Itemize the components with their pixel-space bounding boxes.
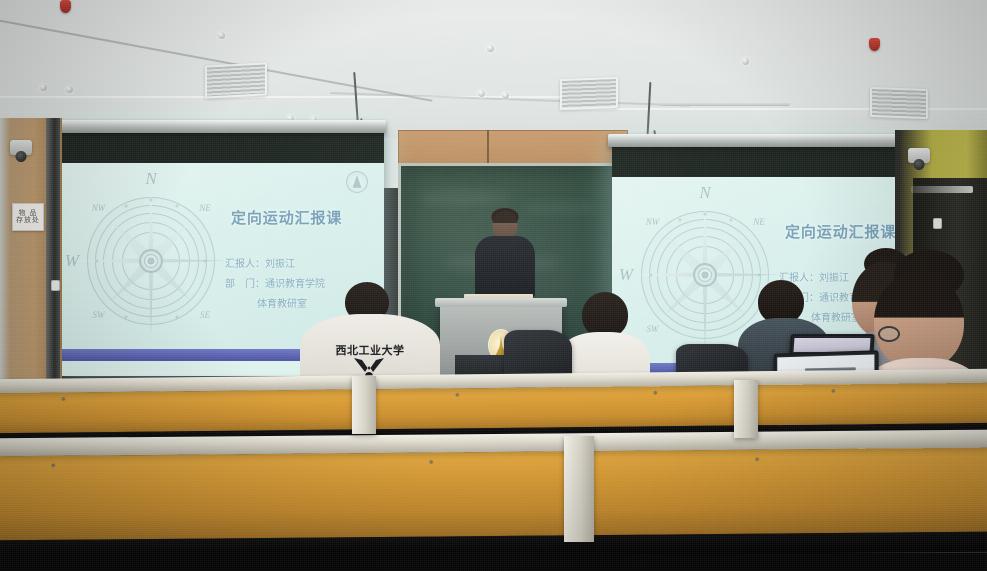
ceiling-spotlight-5	[66, 86, 73, 93]
compass-label-southwest: SW	[93, 310, 105, 320]
wall-socket-right[interactable]	[933, 218, 942, 229]
wall-socket-left[interactable]	[51, 280, 60, 291]
presenter-body	[475, 236, 535, 298]
audience-member-white-jacket: 西北工业大学	[300, 282, 440, 382]
compass-rose-left: N W NW NE SW SE	[76, 181, 226, 341]
compass-label-northeast: NE	[199, 203, 211, 213]
compass-label-northwest-right: NW	[646, 217, 660, 227]
storage-wall-sign: 物 品 存放处	[12, 203, 44, 231]
left-wall-frame	[46, 118, 60, 403]
ceiling-spotlight-2	[487, 45, 494, 52]
ceiling-spotlight-7	[502, 92, 509, 99]
ceiling-spotlight-6	[478, 90, 485, 97]
compass-label-west-right: W	[619, 265, 633, 285]
wall-panel-center-seam	[487, 130, 489, 166]
compass-label-west: W	[65, 251, 79, 271]
screen-masking-left	[58, 128, 384, 163]
compass-label-southeast: SE	[200, 310, 210, 320]
wall-panel-center	[398, 130, 628, 166]
compass-label-north-right: N	[699, 183, 710, 203]
air-vent-3	[870, 87, 928, 119]
ceiling-spotlight-1	[218, 32, 225, 39]
projection-screen-roller-right	[608, 134, 938, 147]
desk-row-front	[0, 430, 987, 561]
desk-divider-back-1	[352, 376, 376, 434]
ceiling-spotlight-4	[40, 84, 47, 91]
head	[874, 272, 964, 370]
slide-presenter-left: 汇报人：刘振江	[225, 255, 295, 270]
wall-sign-line-2: 存放处	[16, 217, 40, 224]
lecture-hall-photo: N W NW NE SW SE 定向运动汇报课 汇报人：刘振江 部 门：通识教育…	[0, 0, 987, 571]
ceiling-camera-right	[908, 148, 930, 163]
slide-title-left: 定向运动汇报课	[231, 207, 342, 228]
ceiling-conduit-secondary	[330, 92, 690, 107]
presenter-head	[493, 211, 518, 239]
fire-sprinkler-right	[869, 38, 880, 51]
ceiling-camera-left	[10, 140, 32, 155]
wall-sign-line-1: 物 品	[19, 210, 38, 217]
air-vent-2	[560, 77, 618, 110]
podium-top-edge	[435, 298, 567, 307]
desk-face	[0, 448, 987, 541]
desk-divider-front-1	[564, 436, 594, 542]
fire-sprinkler-left	[60, 0, 71, 13]
compass-label-northwest: NW	[92, 203, 106, 213]
ceiling-spotlight-3	[742, 58, 749, 65]
projection-screen-roller-left	[56, 120, 386, 133]
presenter	[470, 208, 540, 308]
air-vent-1	[205, 62, 267, 98]
ceiling-light-track	[660, 102, 790, 106]
compass-label-northeast-right: NE	[753, 217, 765, 227]
slide-title-right: 定向运动汇报课	[785, 221, 896, 242]
compass-label-north: N	[145, 169, 156, 189]
doorway-light-strip	[911, 186, 973, 193]
glasses-icon	[878, 326, 900, 342]
floor-shadow	[0, 553, 987, 571]
desk-divider-back-2	[734, 380, 758, 438]
slide-crest-icon	[346, 171, 368, 193]
screen-masking-right	[612, 142, 938, 177]
